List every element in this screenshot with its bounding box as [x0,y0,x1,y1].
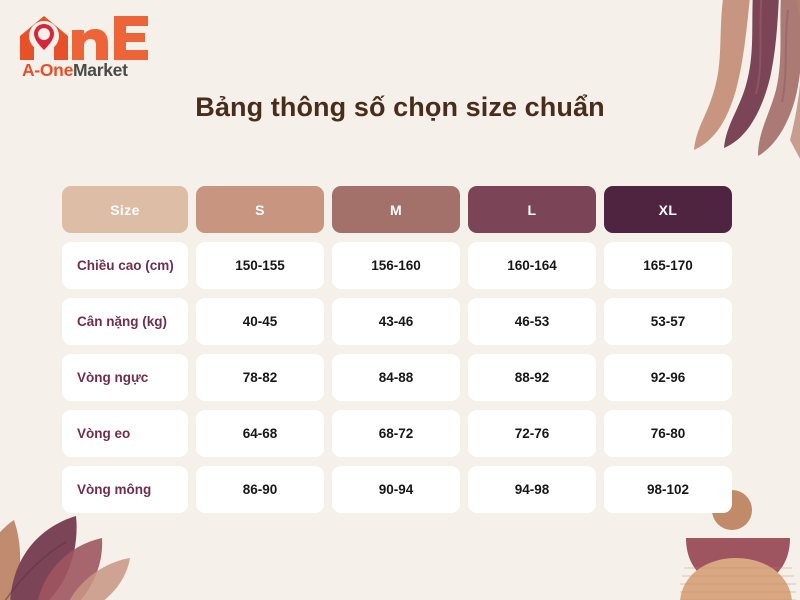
row-value-s: 150-155 [196,242,324,289]
header-cell-xl: XL [604,186,732,233]
header-cell-size: Size [62,186,188,233]
row-value-m: 156-160 [332,242,460,289]
row-value-l: 88-92 [468,354,596,401]
row-value-m: 90-94 [332,466,460,513]
table-row: Chiều cao (cm) 150-155 156-160 160-164 1… [62,242,746,289]
row-label: Vòng eo [62,410,188,457]
row-value-xl: 53-57 [604,298,732,345]
page-title: Bảng thông số chọn size chuẩn [0,92,800,123]
row-value-xl: 98-102 [604,466,732,513]
row-label: Cân nặng (kg) [62,298,188,345]
logo-word-market: Market [73,60,128,80]
size-chart-table: Size S M L XL Chiều cao (cm) 150-155 156… [62,186,746,513]
size-chart-page: A-OneMarket Bảng thông số chọn size chuẩ… [0,0,800,600]
house-location-pin-icon [14,14,150,62]
table-header-row: Size S M L XL [62,186,746,233]
header-cell-m: M [332,186,460,233]
row-value-l: 72-76 [468,410,596,457]
table-row: Cân nặng (kg) 40-45 43-46 46-53 53-57 [62,298,746,345]
row-label: Vòng mông [62,466,188,513]
row-value-l: 94-98 [468,466,596,513]
row-value-s: 40-45 [196,298,324,345]
brand-logo: A-OneMarket [14,14,164,84]
logo-wordmark: A-OneMarket [22,60,128,81]
row-value-xl: 165-170 [604,242,732,289]
header-cell-l: L [468,186,596,233]
table-row: Vòng ngực 78-82 84-88 88-92 92-96 [62,354,746,401]
row-value-l: 46-53 [468,298,596,345]
row-value-xl: 92-96 [604,354,732,401]
row-value-xl: 76-80 [604,410,732,457]
row-value-m: 84-88 [332,354,460,401]
row-label: Vòng ngực [62,354,188,401]
row-value-s: 64-68 [196,410,324,457]
row-label: Chiều cao (cm) [62,242,188,289]
table-row: Vòng mông 86-90 90-94 94-98 98-102 [62,466,746,513]
row-value-m: 43-46 [332,298,460,345]
table-row: Vòng eo 64-68 68-72 72-76 76-80 [62,410,746,457]
row-value-s: 86-90 [196,466,324,513]
flowing-ribbons-top-right-decoration [576,0,800,170]
row-value-l: 160-164 [468,242,596,289]
row-value-m: 68-72 [332,410,460,457]
header-cell-s: S [196,186,324,233]
logo-word-aone: A-One [22,60,73,80]
row-value-s: 78-82 [196,354,324,401]
